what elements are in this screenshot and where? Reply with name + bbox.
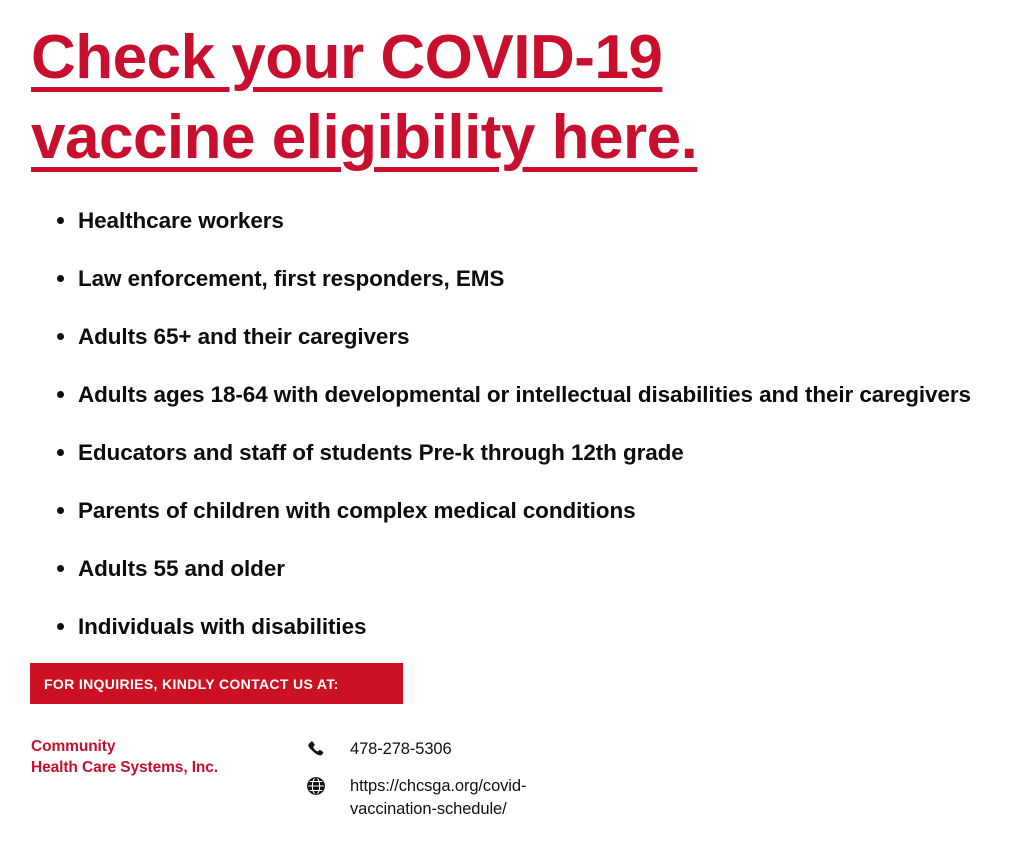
flyer-page: Check your COVID-19 vaccine eligibility … — [0, 0, 1024, 858]
phone-number[interactable]: 478-278-5306 — [350, 738, 452, 761]
globe-icon — [306, 775, 350, 796]
phone-icon — [306, 738, 350, 759]
list-item: Adults 65+ and their caregivers — [78, 320, 993, 353]
contact-details: 478-278-5306 https://chcs — [306, 736, 991, 821]
organization-name: Community Health Care Systems, Inc. — [31, 736, 306, 778]
list-item: Adults ages 18-64 with developmental or … — [78, 378, 993, 411]
footer: Community Health Care Systems, Inc. 478-… — [31, 736, 991, 821]
contact-banner: FOR INQUIRIES, KINDLY CONTACT US AT: — [30, 663, 403, 704]
eligibility-list: Healthcare workers Law enforcement, firs… — [40, 204, 993, 668]
page-title: Check your COVID-19 vaccine eligibility … — [31, 18, 821, 178]
list-item: Healthcare workers — [78, 204, 993, 237]
list-item: Parents of children with complex medical… — [78, 494, 993, 527]
organization-line-1: Community — [31, 736, 306, 757]
list-item: Adults 55 and older — [78, 552, 993, 585]
organization-line-2: Health Care Systems, Inc. — [31, 757, 306, 778]
list-item: Individuals with disabilities — [78, 610, 993, 643]
contact-banner-label: FOR INQUIRIES, KINDLY CONTACT US AT: — [30, 676, 339, 692]
list-item: Educators and staff of students Pre-k th… — [78, 436, 993, 469]
website-row: https://chcsga.org/covid-vaccination-sch… — [306, 775, 991, 821]
phone-row: 478-278-5306 — [306, 738, 991, 761]
list-item: Law enforcement, first responders, EMS — [78, 262, 993, 295]
website-url[interactable]: https://chcsga.org/covid-vaccination-sch… — [350, 775, 595, 821]
